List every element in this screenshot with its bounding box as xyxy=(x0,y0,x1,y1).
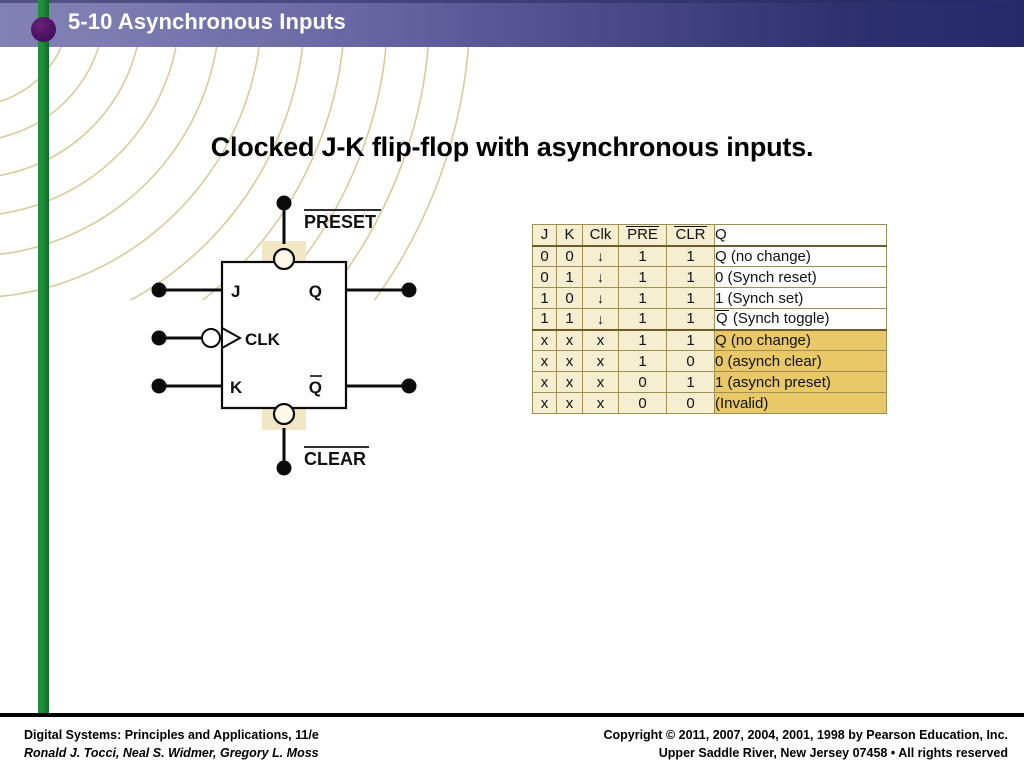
footer-copyright-line2: Upper Saddle River, New Jersey 07458 • A… xyxy=(603,744,1008,762)
cell-k: x xyxy=(557,330,583,351)
cell-k: 1 xyxy=(557,309,583,330)
jk-flip-flop-truth-table: J K Clk PRE CLR Q 0 0 ↓ 1 1 Q (no change… xyxy=(532,224,887,414)
cell-pre: 0 xyxy=(619,372,667,393)
cell-clr: 1 xyxy=(667,288,715,309)
col-header-q: Q xyxy=(715,225,887,246)
cell-j: 0 xyxy=(533,267,557,288)
cell-j: x xyxy=(533,351,557,372)
slide-subtitle: Clocked J-K flip-flop with asynchronous … xyxy=(0,132,1024,163)
table-row: x x x 0 0 (Invalid) xyxy=(533,393,887,414)
cell-clr: 0 xyxy=(667,393,715,414)
col-header-pre: PRE xyxy=(619,225,667,246)
cell-pre: 1 xyxy=(619,246,667,267)
cell-pre: 0 xyxy=(619,393,667,414)
page-title: 5-10 Asynchronous Inputs xyxy=(68,9,346,35)
col-header-clk: Clk xyxy=(583,225,619,246)
cell-j: x xyxy=(533,330,557,351)
cell-q: 1 (Synch set) xyxy=(715,288,887,309)
pin-label-k: K xyxy=(230,378,243,397)
cell-k: 1 xyxy=(557,267,583,288)
preset-bubble-icon xyxy=(274,249,294,269)
table-row: x x x 1 0 0 (asynch clear) xyxy=(533,351,887,372)
cell-clk: ↓ xyxy=(583,288,619,309)
pin-label-qbar: Q xyxy=(309,378,322,397)
truth-table-container: J K Clk PRE CLR Q 0 0 ↓ 1 1 Q (no change… xyxy=(532,224,887,414)
col-header-k: K xyxy=(557,225,583,246)
cell-pre: 1 xyxy=(619,309,667,330)
col-header-j: J xyxy=(533,225,557,246)
cell-j: 0 xyxy=(533,246,557,267)
label-clear: CLEAR xyxy=(304,449,366,469)
footer-copyright: Copyright © 2011, 2007, 2004, 2001, 1998… xyxy=(603,726,1008,762)
cell-clk: ↓ xyxy=(583,267,619,288)
table-header-row: J K Clk PRE CLR Q xyxy=(533,225,887,246)
cell-clk: x xyxy=(583,393,619,414)
cell-q: 0 (asynch clear) xyxy=(715,351,887,372)
jk-flip-flop-diagram: J CLK K Q Q PRESET CLEAR xyxy=(140,190,440,480)
pin-label-j: J xyxy=(231,282,240,301)
footer-authors: Ronald J. Tocci, Neal S. Widmer, Gregory… xyxy=(24,744,319,762)
cell-clr: 1 xyxy=(667,330,715,351)
cell-clk: x xyxy=(583,372,619,393)
footer-divider xyxy=(0,713,1024,717)
cell-j: 1 xyxy=(533,309,557,330)
cell-q: Q (no change) xyxy=(715,330,887,351)
pin-label-clk: CLK xyxy=(245,330,281,349)
cell-clk: ↓ xyxy=(583,246,619,267)
table-row: 0 1 ↓ 1 1 0 (Synch reset) xyxy=(533,267,887,288)
cell-q: Q (no change) xyxy=(715,246,887,267)
purple-bullet-icon xyxy=(31,17,56,42)
table-row: 1 0 ↓ 1 1 1 (Synch set) xyxy=(533,288,887,309)
green-vertical-accent-bar xyxy=(38,0,49,714)
cell-q-toggle: Q (Synch toggle) xyxy=(715,309,887,330)
cell-clr: 1 xyxy=(667,267,715,288)
footer-copyright-line1: Copyright © 2011, 2007, 2004, 2001, 1998… xyxy=(603,726,1008,744)
label-preset: PRESET xyxy=(304,212,376,232)
footer-book-info: Digital Systems: Principles and Applicat… xyxy=(24,726,319,762)
cell-q: (Invalid) xyxy=(715,393,887,414)
cell-j: 1 xyxy=(533,288,557,309)
col-header-clr: CLR xyxy=(667,225,715,246)
cell-j: x xyxy=(533,393,557,414)
cell-j: x xyxy=(533,372,557,393)
table-row: 1 1 ↓ 1 1 Q (Synch toggle) xyxy=(533,309,887,330)
cell-pre: 1 xyxy=(619,288,667,309)
footer-book-title: Digital Systems: Principles and Applicat… xyxy=(24,726,319,744)
cell-k: 0 xyxy=(557,288,583,309)
cell-clk: x xyxy=(583,351,619,372)
table-row: x x x 1 1 Q (no change) xyxy=(533,330,887,351)
cell-clk: x xyxy=(583,330,619,351)
cell-k: 0 xyxy=(557,246,583,267)
cell-pre: 1 xyxy=(619,330,667,351)
cell-q-toggle-text: (Synch toggle) xyxy=(729,310,830,327)
cell-q: 1 (asynch preset) xyxy=(715,372,887,393)
clk-inversion-bubble-icon xyxy=(202,329,220,347)
cell-q: 0 (Synch reset) xyxy=(715,267,887,288)
cell-clk: ↓ xyxy=(583,309,619,330)
cell-k: x xyxy=(557,351,583,372)
cell-clr: 1 xyxy=(667,372,715,393)
cell-clr: 1 xyxy=(667,246,715,267)
cell-clr: 0 xyxy=(667,351,715,372)
clear-bubble-icon xyxy=(274,404,294,424)
cell-k: x xyxy=(557,372,583,393)
table-row: 0 0 ↓ 1 1 Q (no change) xyxy=(533,246,887,267)
table-row: x x x 0 1 1 (asynch preset) xyxy=(533,372,887,393)
cell-pre: 1 xyxy=(619,267,667,288)
cell-clr: 1 xyxy=(667,309,715,330)
cell-k: x xyxy=(557,393,583,414)
pin-label-q: Q xyxy=(309,282,322,301)
cell-pre: 1 xyxy=(619,351,667,372)
